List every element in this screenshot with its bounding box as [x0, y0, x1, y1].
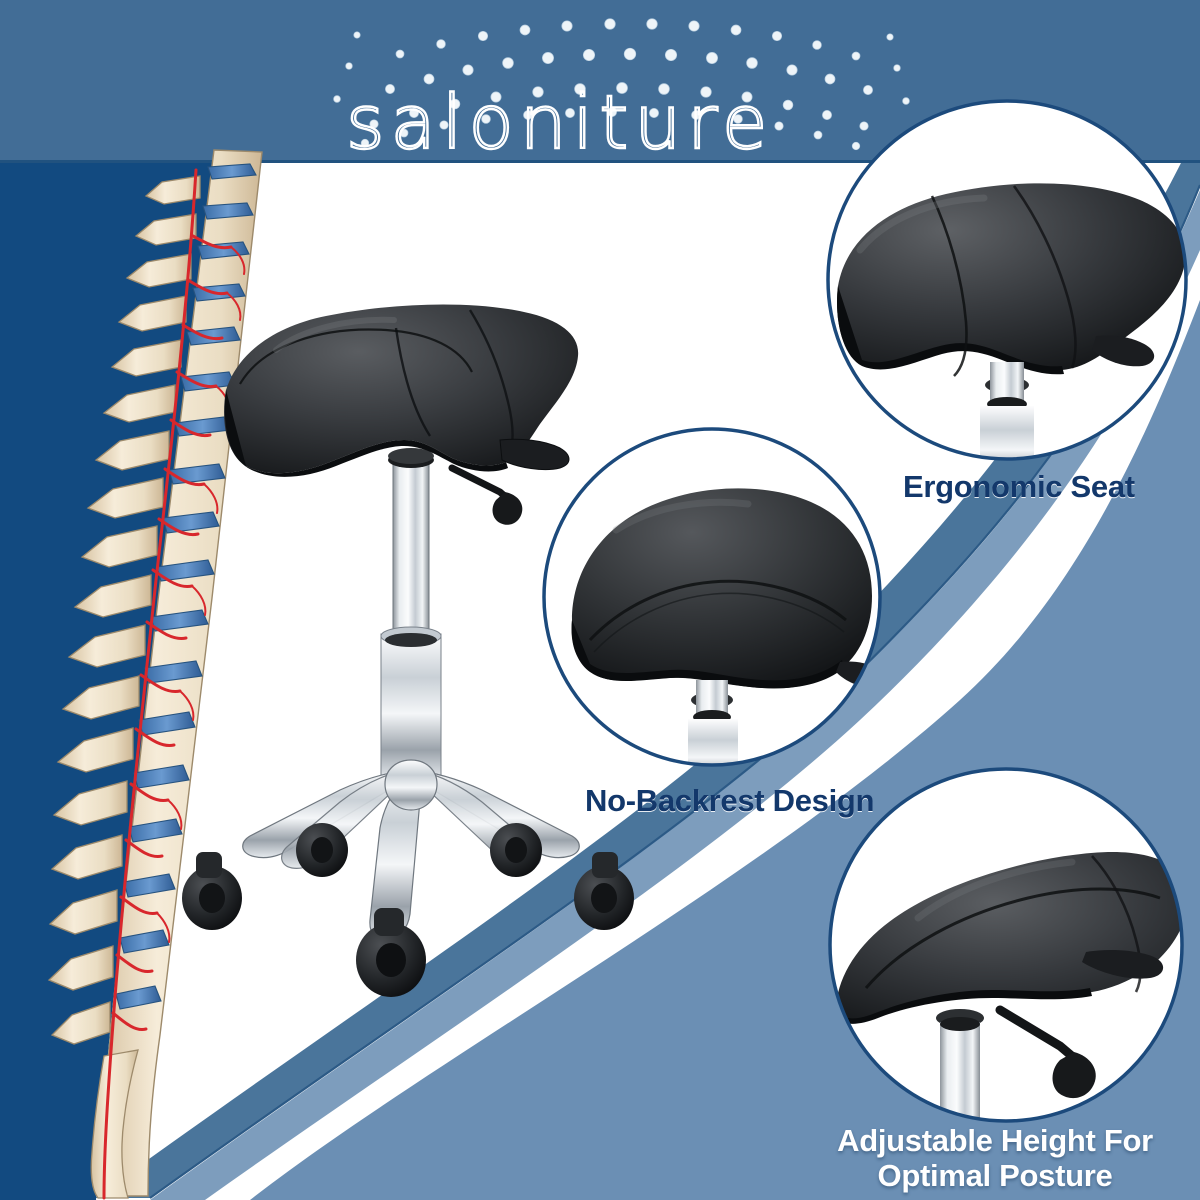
callout-label-ergonomic-seat: Ergonomic Seat	[903, 469, 1135, 505]
callout-label-adjustable-height: Adjustable Height For Optimal Posture	[790, 1124, 1200, 1193]
brand-logo: saloniture	[340, 2, 900, 162]
callout-label-no-backrest-design: No-Backrest Design	[585, 783, 874, 819]
brand-name: saloniture	[346, 80, 773, 162]
product-image-canvas: saloniture	[0, 0, 1200, 1200]
brand-wordmark: saloniture	[340, 2, 900, 162]
background-graphics	[0, 0, 1200, 1200]
